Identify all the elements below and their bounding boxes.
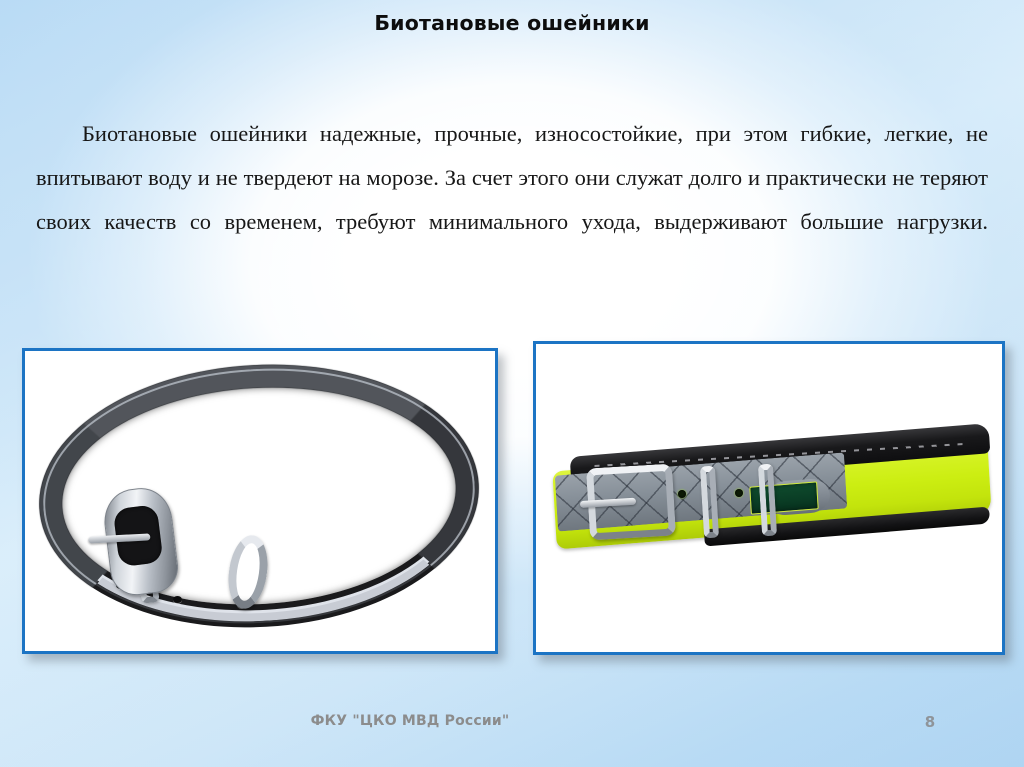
strap-hole: [678, 490, 686, 498]
image-frame-neon-collar[interactable]: [533, 341, 1005, 655]
footer-organization: ФКУ "ЦКО МВД России": [0, 713, 820, 729]
black-collar-photo: [25, 351, 495, 651]
neon-yellow-collar-photo: [536, 344, 1002, 652]
page-title: Биотановые ошейники: [0, 8, 1024, 38]
metal-buckle: [85, 484, 187, 602]
slide-canvas: Биотановые ошейники Биотановые ошейники …: [0, 0, 1024, 767]
strap-hole: [173, 596, 182, 603]
strap-hole: [735, 489, 743, 497]
body-paragraph: Биотановые ошейники надежные, прочные, и…: [36, 112, 988, 288]
neon-collar: [554, 440, 990, 570]
collar-loop: [33, 357, 487, 645]
image-frame-black-collar[interactable]: [22, 348, 498, 654]
metal-buckle: [586, 464, 676, 541]
page-number: 8: [900, 713, 960, 731]
